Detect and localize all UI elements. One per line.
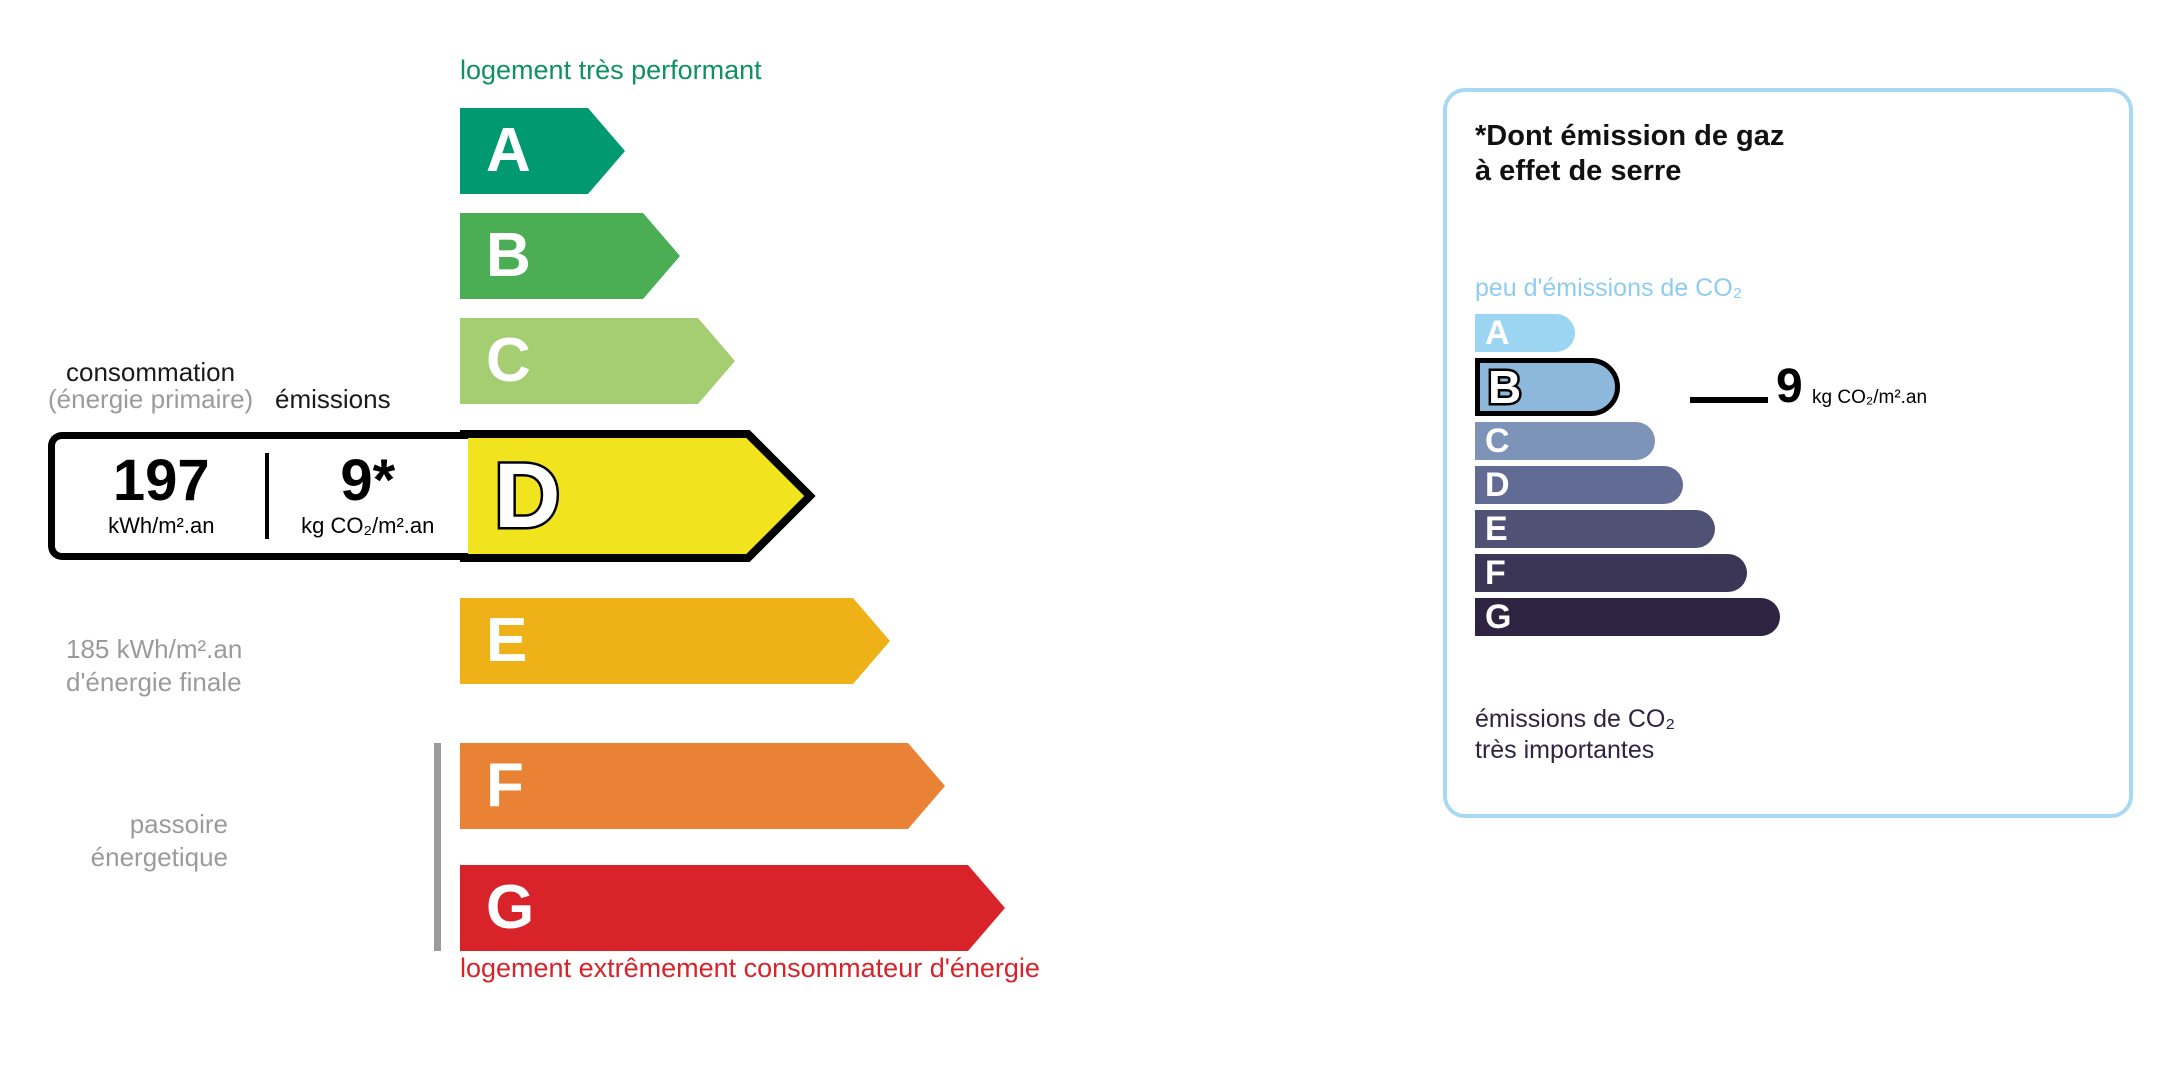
co2-bottom-line1: émissions de CO₂ (1475, 705, 1675, 733)
consumption-value-cell: 197 kWh/m².an (55, 439, 268, 553)
energy-bar-a-letter: A (486, 120, 531, 182)
energy-bottom-caption: logement extrêmement consommateur d'éner… (460, 953, 1040, 984)
energy-bar-a: A (460, 108, 625, 194)
emission-value-cell: 9* kg CO₂/m².an (268, 439, 468, 553)
co2-bottom-line2: très importantes (1475, 736, 1654, 764)
energy-bar-c-shape: C (460, 318, 735, 404)
energy-bar-d-letter: D (494, 450, 560, 542)
passoire-line1: passoire (130, 809, 228, 839)
energy-bar-e-letter: E (486, 610, 527, 672)
energy-performance-chart: logement très performant A B C (0, 0, 1400, 1079)
co2-bar-d-shape: D (1475, 466, 1683, 504)
co2-bar-g: G (1475, 598, 1780, 636)
co2-bar-f-shape: F (1475, 554, 1747, 592)
co2-emissions-panel: *Dont émission de gaz à effet de serre p… (1443, 88, 2133, 818)
co2-top-caption: peu d'émissions de CO₂ (1475, 274, 1742, 303)
co2-bottom-caption: émissions de CO₂ très importantes (1475, 704, 1675, 765)
co2-bar-e-shape: E (1475, 510, 1715, 548)
co2-bar-c: C (1475, 422, 1655, 460)
co2-bar-f: F (1475, 554, 1747, 592)
label-emissions: émissions (275, 384, 391, 415)
passoire-label: passoire énergetique (91, 808, 228, 873)
co2-leader-line (1690, 397, 1768, 403)
energy-bar-b-letter: B (486, 225, 531, 287)
co2-bar-b-letter: B (1488, 364, 1521, 410)
energy-bar-g: G (460, 865, 1005, 951)
energy-bar-f: F (460, 743, 945, 829)
energy-bar-a-shape: A (460, 108, 625, 194)
final-energy-line1: 185 kWh/m².an (66, 634, 242, 664)
energy-bar-e-shape: E (460, 598, 890, 684)
co2-bar-g-letter: G (1485, 600, 1511, 634)
co2-bar-c-letter: C (1485, 424, 1510, 458)
energy-bar-f-letter: F (486, 755, 524, 817)
co2-bar-d: D (1475, 466, 1683, 504)
co2-panel-title: *Dont émission de gaz à effet de serre (1475, 119, 1784, 190)
co2-bar-f-letter: F (1485, 556, 1506, 590)
passoire-line2: énergetique (91, 842, 228, 872)
final-energy-note: 185 kWh/m².an d'énergie finale (66, 633, 242, 698)
energy-bar-d-shape: D (460, 430, 816, 562)
emission-value: 9* (340, 453, 395, 510)
energy-bar-f-shape: F (460, 743, 945, 829)
co2-title-line1: *Dont émission de gaz (1475, 120, 1784, 152)
co2-bar-c-shape: C (1475, 422, 1655, 460)
energy-bar-g-letter: G (486, 877, 534, 939)
value-box: 197 kWh/m².an 9* kg CO₂/m².an (48, 432, 468, 560)
co2-bar-g-shape: G (1475, 598, 1780, 636)
co2-bar-e-letter: E (1485, 512, 1508, 546)
energy-bar-c-letter: C (486, 330, 531, 392)
energy-top-caption: logement très performant (460, 55, 762, 86)
co2-value: 9 (1776, 363, 1803, 411)
energy-bar-b: B (460, 213, 680, 299)
co2-value-unit: kg CO₂/m².an (1812, 387, 1927, 409)
energy-bar-e: E (460, 598, 890, 684)
co2-bar-a-letter: A (1485, 316, 1510, 350)
energy-bar-b-shape: B (460, 213, 680, 299)
co2-bar-b-selected: B (1475, 358, 1620, 416)
co2-bar-e: E (1475, 510, 1715, 548)
passoire-indicator-bar (434, 743, 441, 951)
co2-title-line2: à effet de serre (1475, 155, 1681, 187)
co2-bar-a: A (1475, 314, 1575, 352)
consumption-unit: kWh/m².an (108, 513, 214, 539)
co2-bar-d-letter: D (1485, 468, 1510, 502)
energy-bar-c: C (460, 318, 735, 404)
consumption-value: 197 (113, 453, 210, 510)
energy-bar-d-selected: D (460, 430, 816, 562)
energy-bar-g-shape: G (460, 865, 1005, 951)
final-energy-line2: d'énergie finale (66, 667, 242, 697)
co2-bar-b-shape: B (1475, 358, 1620, 416)
emission-unit: kg CO₂/m².an (301, 513, 434, 539)
co2-bar-a-shape: A (1475, 314, 1575, 352)
label-energie-primaire: (énergie primaire) (48, 384, 253, 415)
